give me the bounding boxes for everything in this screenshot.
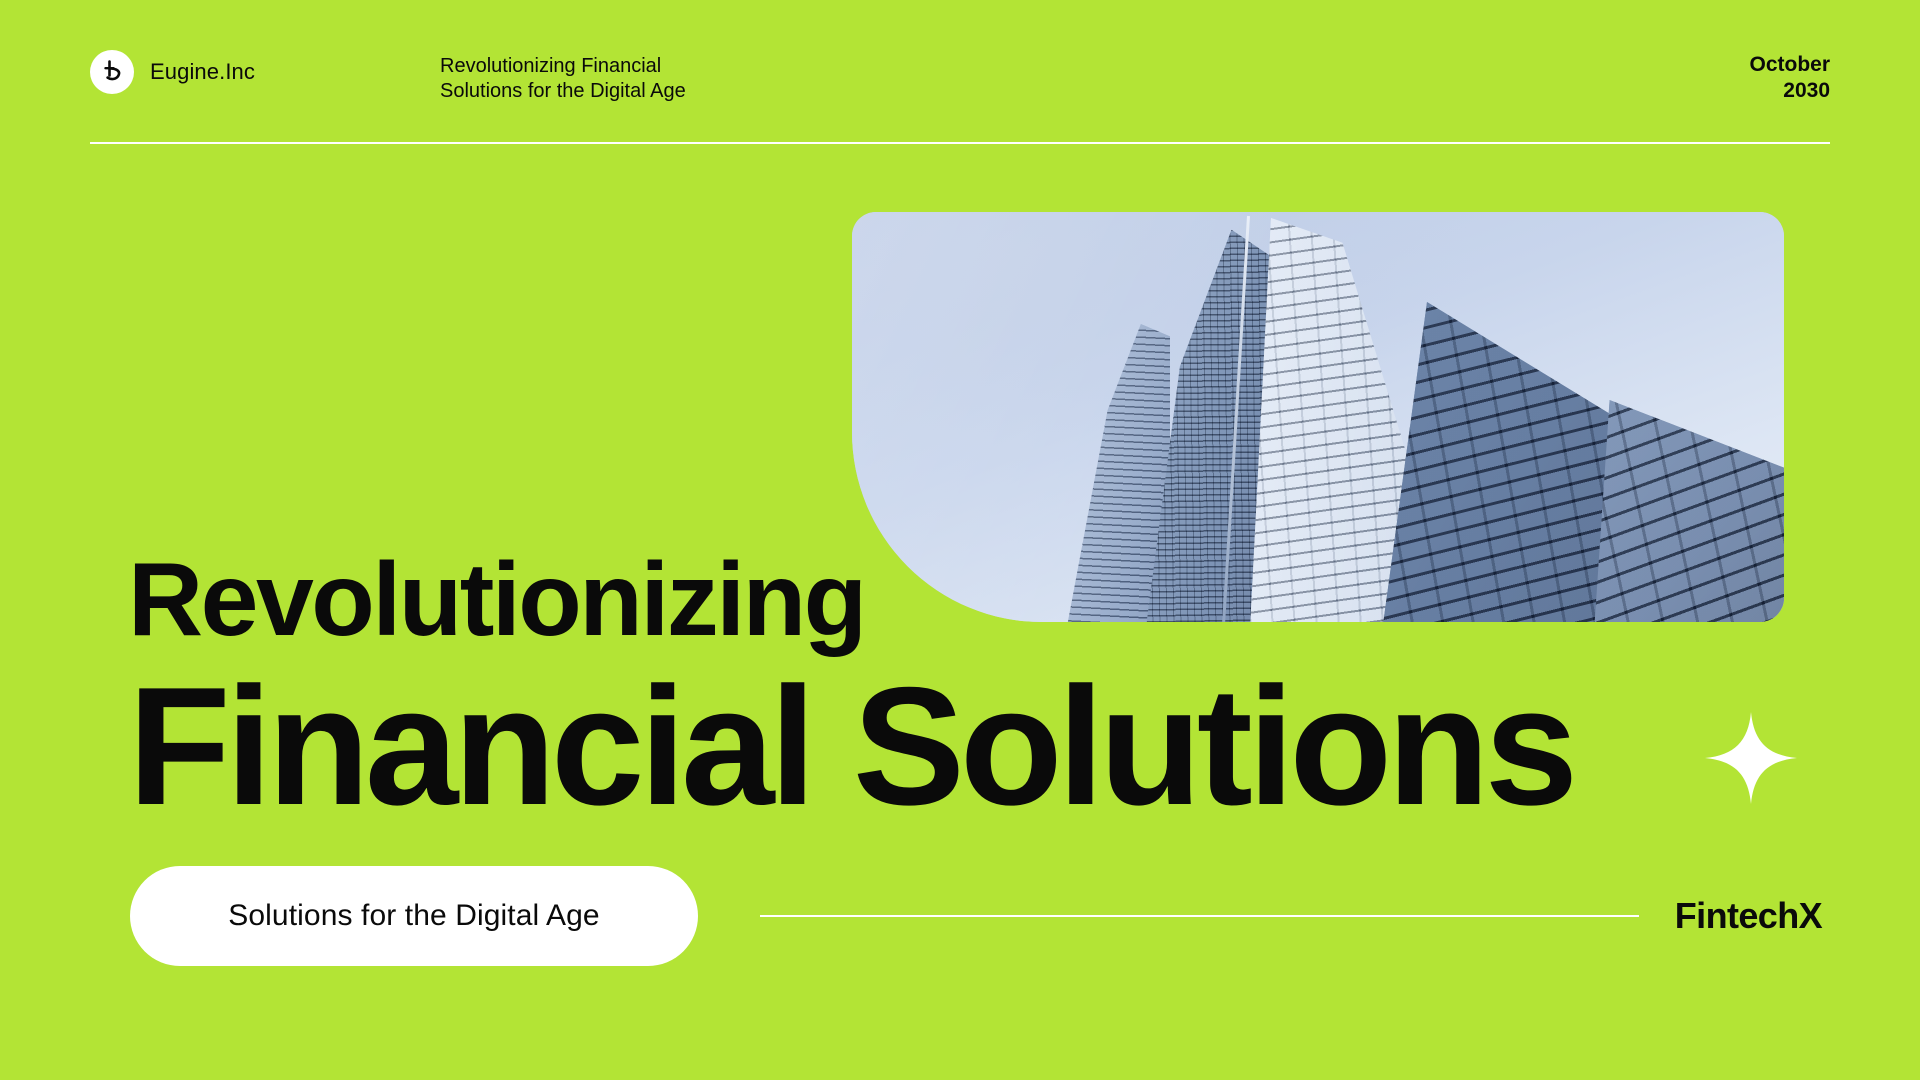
eugine-monogram-icon — [90, 50, 134, 94]
footer-brand-name: FintechX — [1675, 895, 1830, 937]
header-date-month: October — [1749, 52, 1830, 78]
tagline-pill-button[interactable]: Solutions for the Digital Age — [130, 866, 698, 966]
header-date-year: 2030 — [1749, 78, 1830, 104]
header-tagline-line2: Solutions for the Digital Age — [440, 79, 860, 104]
headline-block: Revolutionizing Financial Solutions — [128, 548, 1788, 830]
slide-footer: Solutions for the Digital Age FintechX — [130, 862, 1830, 970]
slide-header: Eugine.Inc Revolutionizing Financial Sol… — [90, 44, 1830, 124]
sparkle-star-icon — [1705, 712, 1797, 804]
header-tagline: Revolutionizing Financial Solutions for … — [440, 44, 860, 104]
header-divider — [90, 142, 1830, 144]
brand-name: Eugine.Inc — [150, 59, 255, 85]
brand-lockup[interactable]: Eugine.Inc — [90, 44, 410, 94]
footer-divider — [760, 915, 1639, 917]
presentation-slide: Eugine.Inc Revolutionizing Financial Sol… — [0, 0, 1920, 1080]
header-date: October 2030 — [1749, 44, 1830, 104]
tagline-pill-label: Solutions for the Digital Age — [228, 899, 599, 933]
header-tagline-line1: Revolutionizing Financial — [440, 54, 860, 79]
headline-line-2: Financial Solutions — [128, 662, 1788, 830]
headline-line-1: Revolutionizing — [128, 548, 1788, 652]
